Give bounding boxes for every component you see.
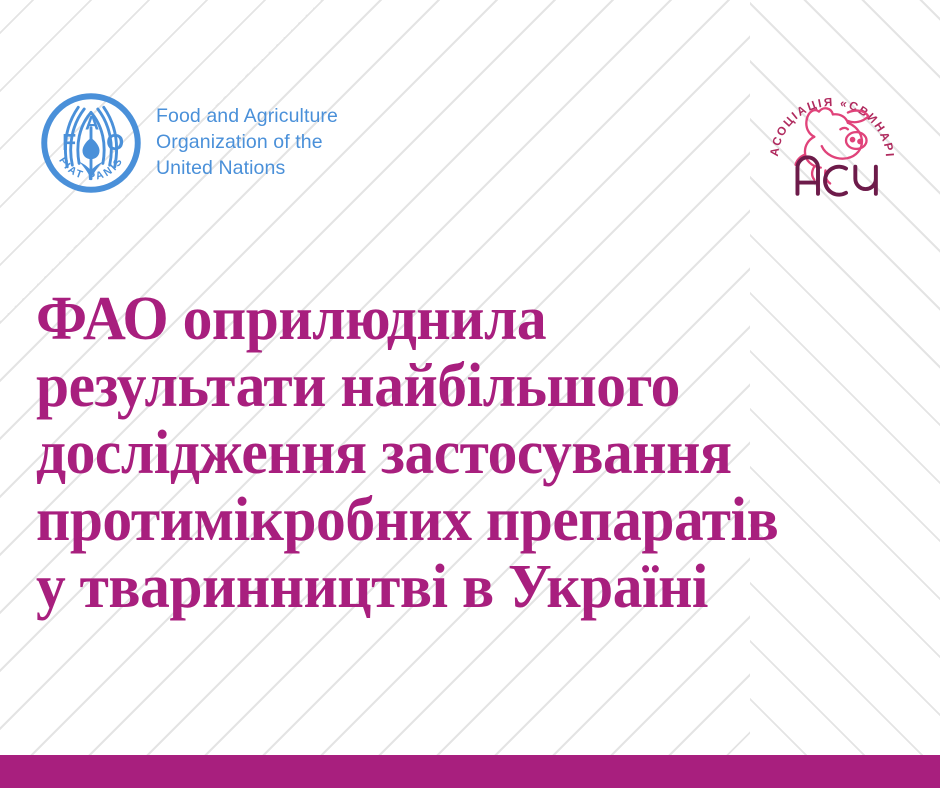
headline-line-1: ФАО оприлюднила (36, 286, 871, 353)
fao-name-line-2: Organization of the (156, 130, 338, 156)
fao-organization-name: Food and Agriculture Organization of the… (156, 104, 338, 182)
fao-name-line-1: Food and Agriculture (156, 104, 338, 130)
pig-head-illustration (796, 108, 869, 183)
asu-logo-icon: АСОЦІАЦІЯ «СВИНАРІ УКРАЇНИ» (762, 78, 902, 218)
headline-line-4: протимікробних препаратів (36, 487, 871, 554)
asu-circular-text: АСОЦІАЦІЯ «СВИНАРІ УКРАЇНИ» (762, 78, 896, 159)
poster-header: F A O FIAT PANIS Food and Agriculture Or… (0, 0, 940, 220)
fao-letter-o: O (106, 129, 124, 155)
fao-name-line-3: United Nations (156, 156, 338, 182)
poster-canvas: F A O FIAT PANIS Food and Agriculture Or… (0, 0, 940, 788)
fao-emblem-icon: F A O FIAT PANIS (40, 92, 142, 194)
headline-line-5: у тваринництві в Україні (36, 554, 871, 621)
headline-line-3: дослідження застосування (36, 420, 871, 487)
fao-letter-a: A (85, 112, 99, 134)
headline-line-2: результати найбільшого (36, 353, 871, 420)
poster-headline: ФАО оприлюднила результати найбільшого д… (36, 286, 906, 621)
fao-logo-lockup: F A O FIAT PANIS Food and Agriculture Or… (40, 92, 338, 194)
fao-letter-f: F (62, 129, 76, 155)
bottom-accent-bar (0, 755, 940, 788)
